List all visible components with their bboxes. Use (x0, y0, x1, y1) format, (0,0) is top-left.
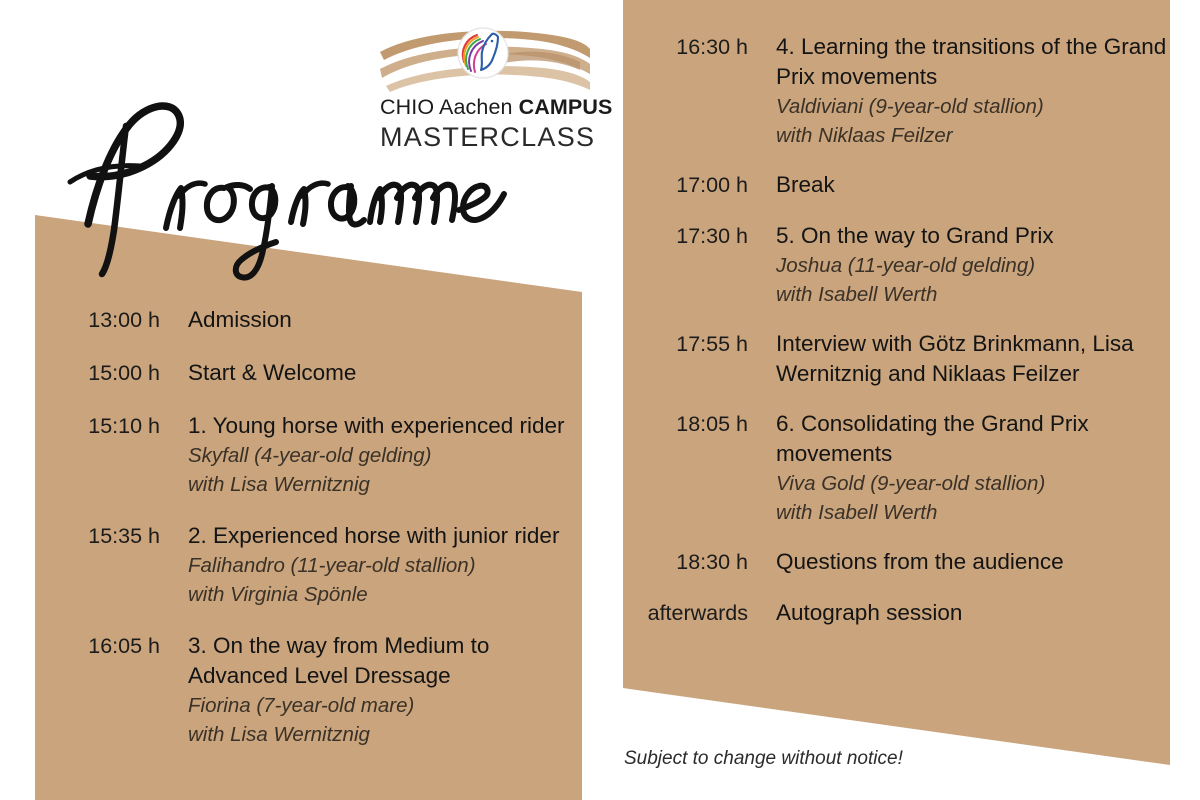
schedule-row: 13:00 hAdmission (35, 305, 582, 336)
schedule-row: 17:00 hBreak (623, 170, 1170, 201)
poster-canvas: CHIO Aachen CAMPUS MASTERCLASS Programme (0, 0, 1200, 800)
schedule-item-title: 4. Learning the transitions of the Grand… (776, 32, 1170, 92)
page-title-script-lettering (48, 96, 518, 286)
schedule-item-detail: Falihandro (11-year-old stallion) (188, 551, 582, 580)
schedule-time: afterwards (623, 598, 776, 629)
schedule-item-detail: Fiorina (7-year-old mare) (188, 691, 582, 720)
schedule-description: Questions from the audience (776, 547, 1170, 577)
schedule-item-detail: with Lisa Wernitznig (188, 720, 582, 749)
schedule-item-detail: with Virginia Spönle (188, 580, 582, 609)
schedule-row: 16:05 h3. On the way from Medium to Adva… (35, 631, 582, 749)
disclaimer-note: Subject to change without notice! (624, 748, 903, 770)
schedule-description: 3. On the way from Medium to Advanced Le… (188, 631, 582, 749)
schedule-description: Autograph session (776, 598, 1170, 628)
schedule-description: 6. Consolidating the Grand Prix movement… (776, 409, 1170, 527)
schedule-item-detail: Joshua (11-year-old gelding) (776, 251, 1170, 280)
schedule-item-title: 1. Young horse with experienced rider (188, 411, 582, 441)
schedule-row: 18:30 hQuestions from the audience (623, 547, 1170, 578)
schedule-item-title: 5. On the way to Grand Prix (776, 221, 1170, 251)
schedule-description: Start & Welcome (188, 358, 582, 388)
schedule-time: 15:00 h (35, 358, 188, 389)
schedule-time: 16:05 h (35, 631, 188, 662)
schedule-item-title: Admission (188, 305, 582, 335)
schedule-time: 13:00 h (35, 305, 188, 336)
schedule-item-detail: Valdiviani (9-year-old stallion) (776, 92, 1170, 121)
schedule-row: afterwardsAutograph session (623, 598, 1170, 629)
schedule-time: 18:30 h (623, 547, 776, 578)
schedule-description: 1. Young horse with experienced riderSky… (188, 411, 582, 499)
schedule-item-title: Start & Welcome (188, 358, 582, 388)
schedule-description: 2. Experienced horse with junior riderFa… (188, 521, 582, 609)
schedule-item-title: Autograph session (776, 598, 1170, 628)
schedule-row: 15:10 h1. Young horse with experienced r… (35, 411, 582, 499)
schedule-item-detail: Viva Gold (9-year-old stallion) (776, 469, 1170, 498)
schedule-row: 16:30 h4. Learning the transitions of th… (623, 32, 1170, 150)
schedule-item-detail: with Lisa Wernitznig (188, 470, 582, 499)
schedule-item-detail: Skyfall (4-year-old gelding) (188, 441, 582, 470)
schedule-description: 5. On the way to Grand PrixJoshua (11-ye… (776, 221, 1170, 309)
logo-wordmark-bold: CAMPUS (519, 95, 613, 119)
page-title: Programme (48, 96, 518, 286)
schedule-row: 17:30 h5. On the way to Grand PrixJoshua… (623, 221, 1170, 309)
schedule-time: 17:30 h (623, 221, 776, 252)
schedule-time: 15:35 h (35, 521, 188, 552)
chio-aachen-campus-logo-mark (380, 22, 590, 94)
schedule-time: 18:05 h (623, 409, 776, 440)
schedule-description: Interview with Götz Brinkmann, Lisa Wern… (776, 329, 1170, 389)
schedule-description: Break (776, 170, 1170, 200)
schedule-item-title: Break (776, 170, 1170, 200)
schedule-item-title: 2. Experienced horse with junior rider (188, 521, 582, 551)
schedule-description: 4. Learning the transitions of the Grand… (776, 32, 1170, 150)
schedule-item-detail: with Niklaas Feilzer (776, 121, 1170, 150)
schedule-row: 15:00 hStart & Welcome (35, 358, 582, 389)
schedule-item-detail: with Isabell Werth (776, 280, 1170, 309)
schedule-item-title: 6. Consolidating the Grand Prix movement… (776, 409, 1170, 469)
schedule-item-title: 3. On the way from Medium to Advanced Le… (188, 631, 582, 691)
schedule-row: 15:35 h2. Experienced horse with junior … (35, 521, 582, 609)
schedule-item-detail: with Isabell Werth (776, 498, 1170, 527)
schedule-item-title: Interview with Götz Brinkmann, Lisa Wern… (776, 329, 1170, 389)
schedule-left-column: 13:00 hAdmission15:00 hStart & Welcome15… (35, 305, 582, 771)
schedule-description: Admission (188, 305, 582, 335)
schedule-right-column: 16:30 h4. Learning the transitions of th… (623, 32, 1170, 649)
schedule-item-title: Questions from the audience (776, 547, 1170, 577)
schedule-row: 17:55 hInterview with Götz Brinkmann, Li… (623, 329, 1170, 389)
schedule-time: 17:55 h (623, 329, 776, 360)
schedule-time: 16:30 h (623, 32, 776, 63)
schedule-time: 17:00 h (623, 170, 776, 201)
schedule-time: 15:10 h (35, 411, 188, 442)
schedule-row: 18:05 h6. Consolidating the Grand Prix m… (623, 409, 1170, 527)
